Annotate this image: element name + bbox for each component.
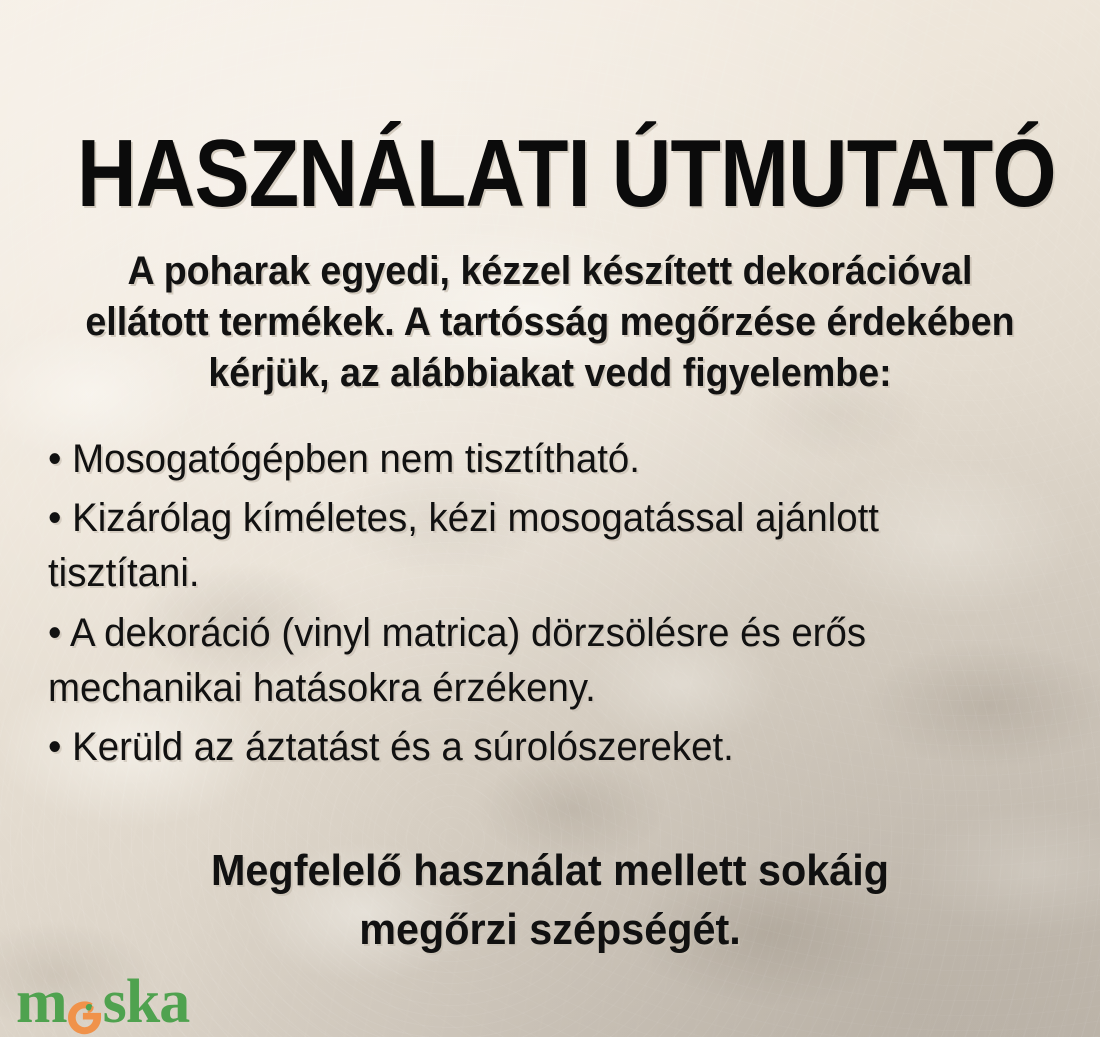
meska-logo[interactable]: m ska bbox=[16, 977, 189, 1033]
list-item: • Mosogatógépben nem tisztítható. bbox=[48, 432, 1021, 487]
logo-text-part-1: m bbox=[16, 971, 67, 1033]
intro-paragraph: A poharak egyedi, kézzel készített dekor… bbox=[65, 246, 1035, 400]
intro-line-3: kérjük, az alábbiakat vedd figyelembe: bbox=[65, 348, 1035, 399]
page-title: HASZNÁLATI ÚTMUTATÓ bbox=[77, 126, 1023, 222]
logo-accent-e-icon bbox=[68, 995, 102, 1035]
outro-line-1: Megfelelő használat mellett sokáig bbox=[65, 842, 1035, 901]
intro-line-1: A poharak egyedi, kézzel készített dekor… bbox=[65, 246, 1035, 297]
list-item: • Kerüld az áztatást és a súrolószereket… bbox=[48, 720, 1021, 775]
care-instructions-card: HASZNÁLATI ÚTMUTATÓ A poharak egyedi, ké… bbox=[0, 0, 1100, 1037]
list-item: • Kizárólag kíméletes, kézi mosogatással… bbox=[48, 491, 1021, 601]
list-item: • A dekoráció (vinyl matrica) dörzsölésr… bbox=[48, 606, 1021, 716]
outro-line-2: megőrzi szépségét. bbox=[65, 901, 1035, 960]
logo-text-part-2: ska bbox=[103, 971, 190, 1033]
closing-statement: Megfelelő használat mellett sokáig megőr… bbox=[65, 842, 1035, 959]
intro-line-2: ellátott termékek. A tartósság megőrzése… bbox=[65, 297, 1035, 348]
care-bullet-list: • Mosogatógépben nem tisztítható. • Kizá… bbox=[48, 432, 1021, 779]
